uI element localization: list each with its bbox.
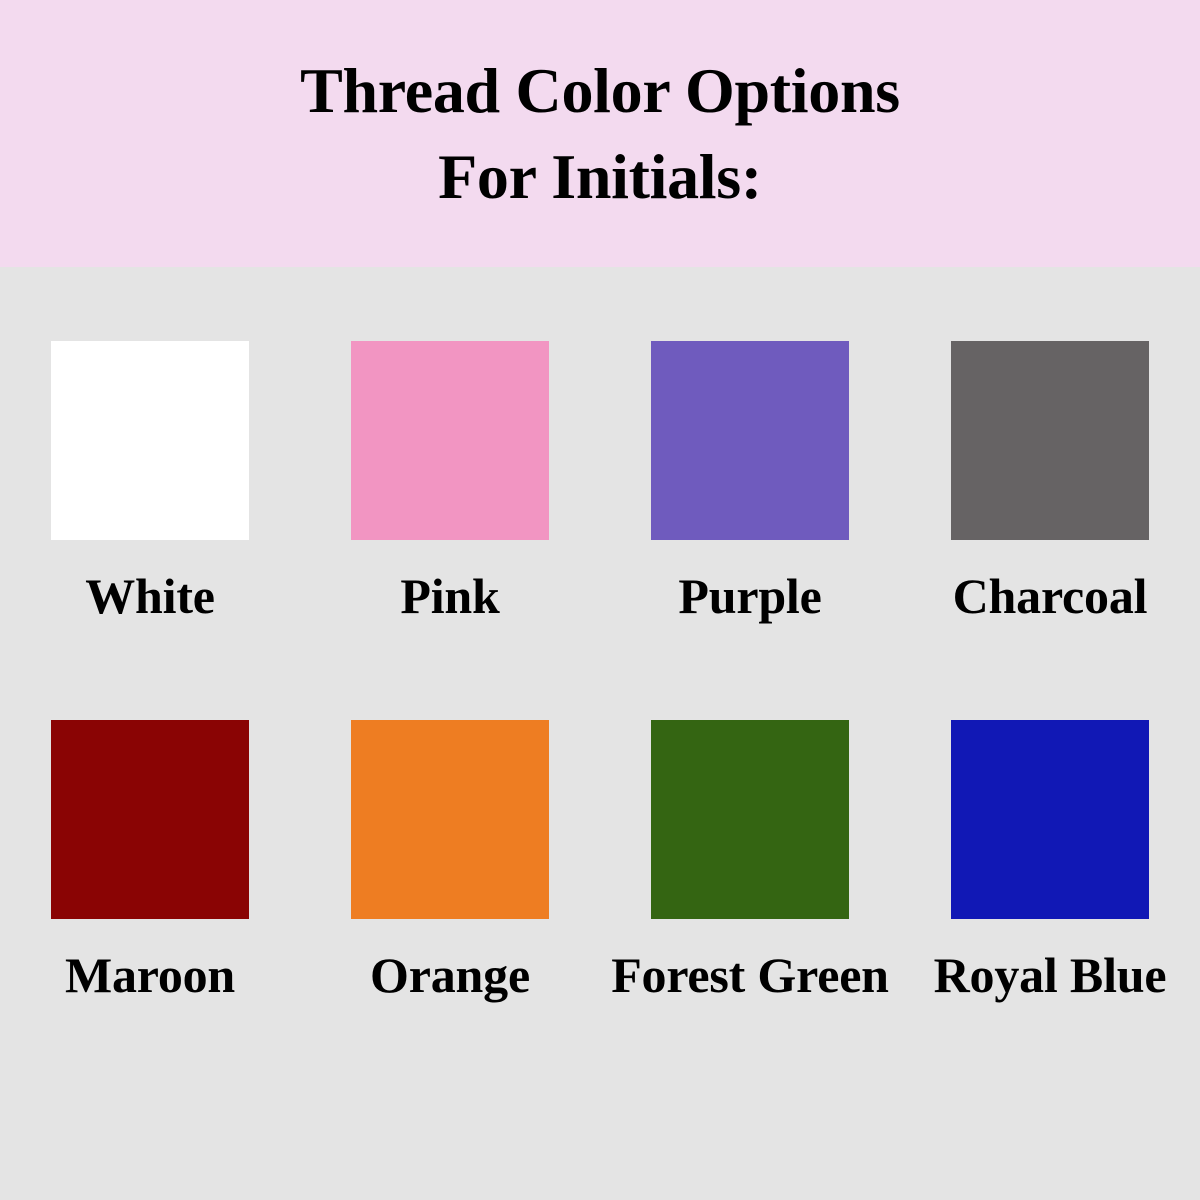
thread-color-options-page: Thread Color Options For Initials: White… <box>0 0 1200 1200</box>
color-label-charcoal: Charcoal <box>900 568 1200 624</box>
color-chip-royal-blue[interactable] <box>951 720 1149 919</box>
color-chip-purple[interactable] <box>651 341 849 540</box>
color-chip-pink[interactable] <box>351 341 549 540</box>
header-band: Thread Color Options For Initials: <box>0 0 1200 267</box>
color-swatch-charcoal[interactable]: Charcoal <box>900 267 1200 660</box>
color-label-royal-blue: Royal Blue <box>900 947 1200 1003</box>
page-title-line-1: Thread Color Options <box>300 48 900 133</box>
color-chip-maroon[interactable] <box>51 720 249 919</box>
color-chip-white[interactable] <box>51 341 249 540</box>
color-chip-forest-green[interactable] <box>651 720 849 919</box>
color-label-forest-green: Forest Green <box>600 947 900 1003</box>
color-label-pink: Pink <box>300 568 600 624</box>
color-swatch-orange[interactable]: Orange <box>300 660 600 1080</box>
color-swatch-forest-green[interactable]: Forest Green <box>600 660 900 1080</box>
color-label-purple: Purple <box>600 568 900 624</box>
color-swatch-pink[interactable]: Pink <box>300 267 600 660</box>
color-chip-charcoal[interactable] <box>951 341 1149 540</box>
color-chip-orange[interactable] <box>351 720 549 919</box>
page-title: Thread Color Options For Initials: <box>260 48 940 218</box>
color-swatch-white[interactable]: White <box>0 267 300 660</box>
page-title-line-2: For Initials: <box>300 134 900 219</box>
color-swatch-maroon[interactable]: Maroon <box>0 660 300 1080</box>
color-label-maroon: Maroon <box>0 947 300 1003</box>
color-label-white: White <box>0 568 300 624</box>
color-swatch-purple[interactable]: Purple <box>600 267 900 660</box>
color-label-orange: Orange <box>300 947 600 1003</box>
color-swatch-grid: White Pink Purple Charcoal Maroon Orange… <box>0 267 1200 1200</box>
color-swatch-royal-blue[interactable]: Royal Blue <box>900 660 1200 1080</box>
